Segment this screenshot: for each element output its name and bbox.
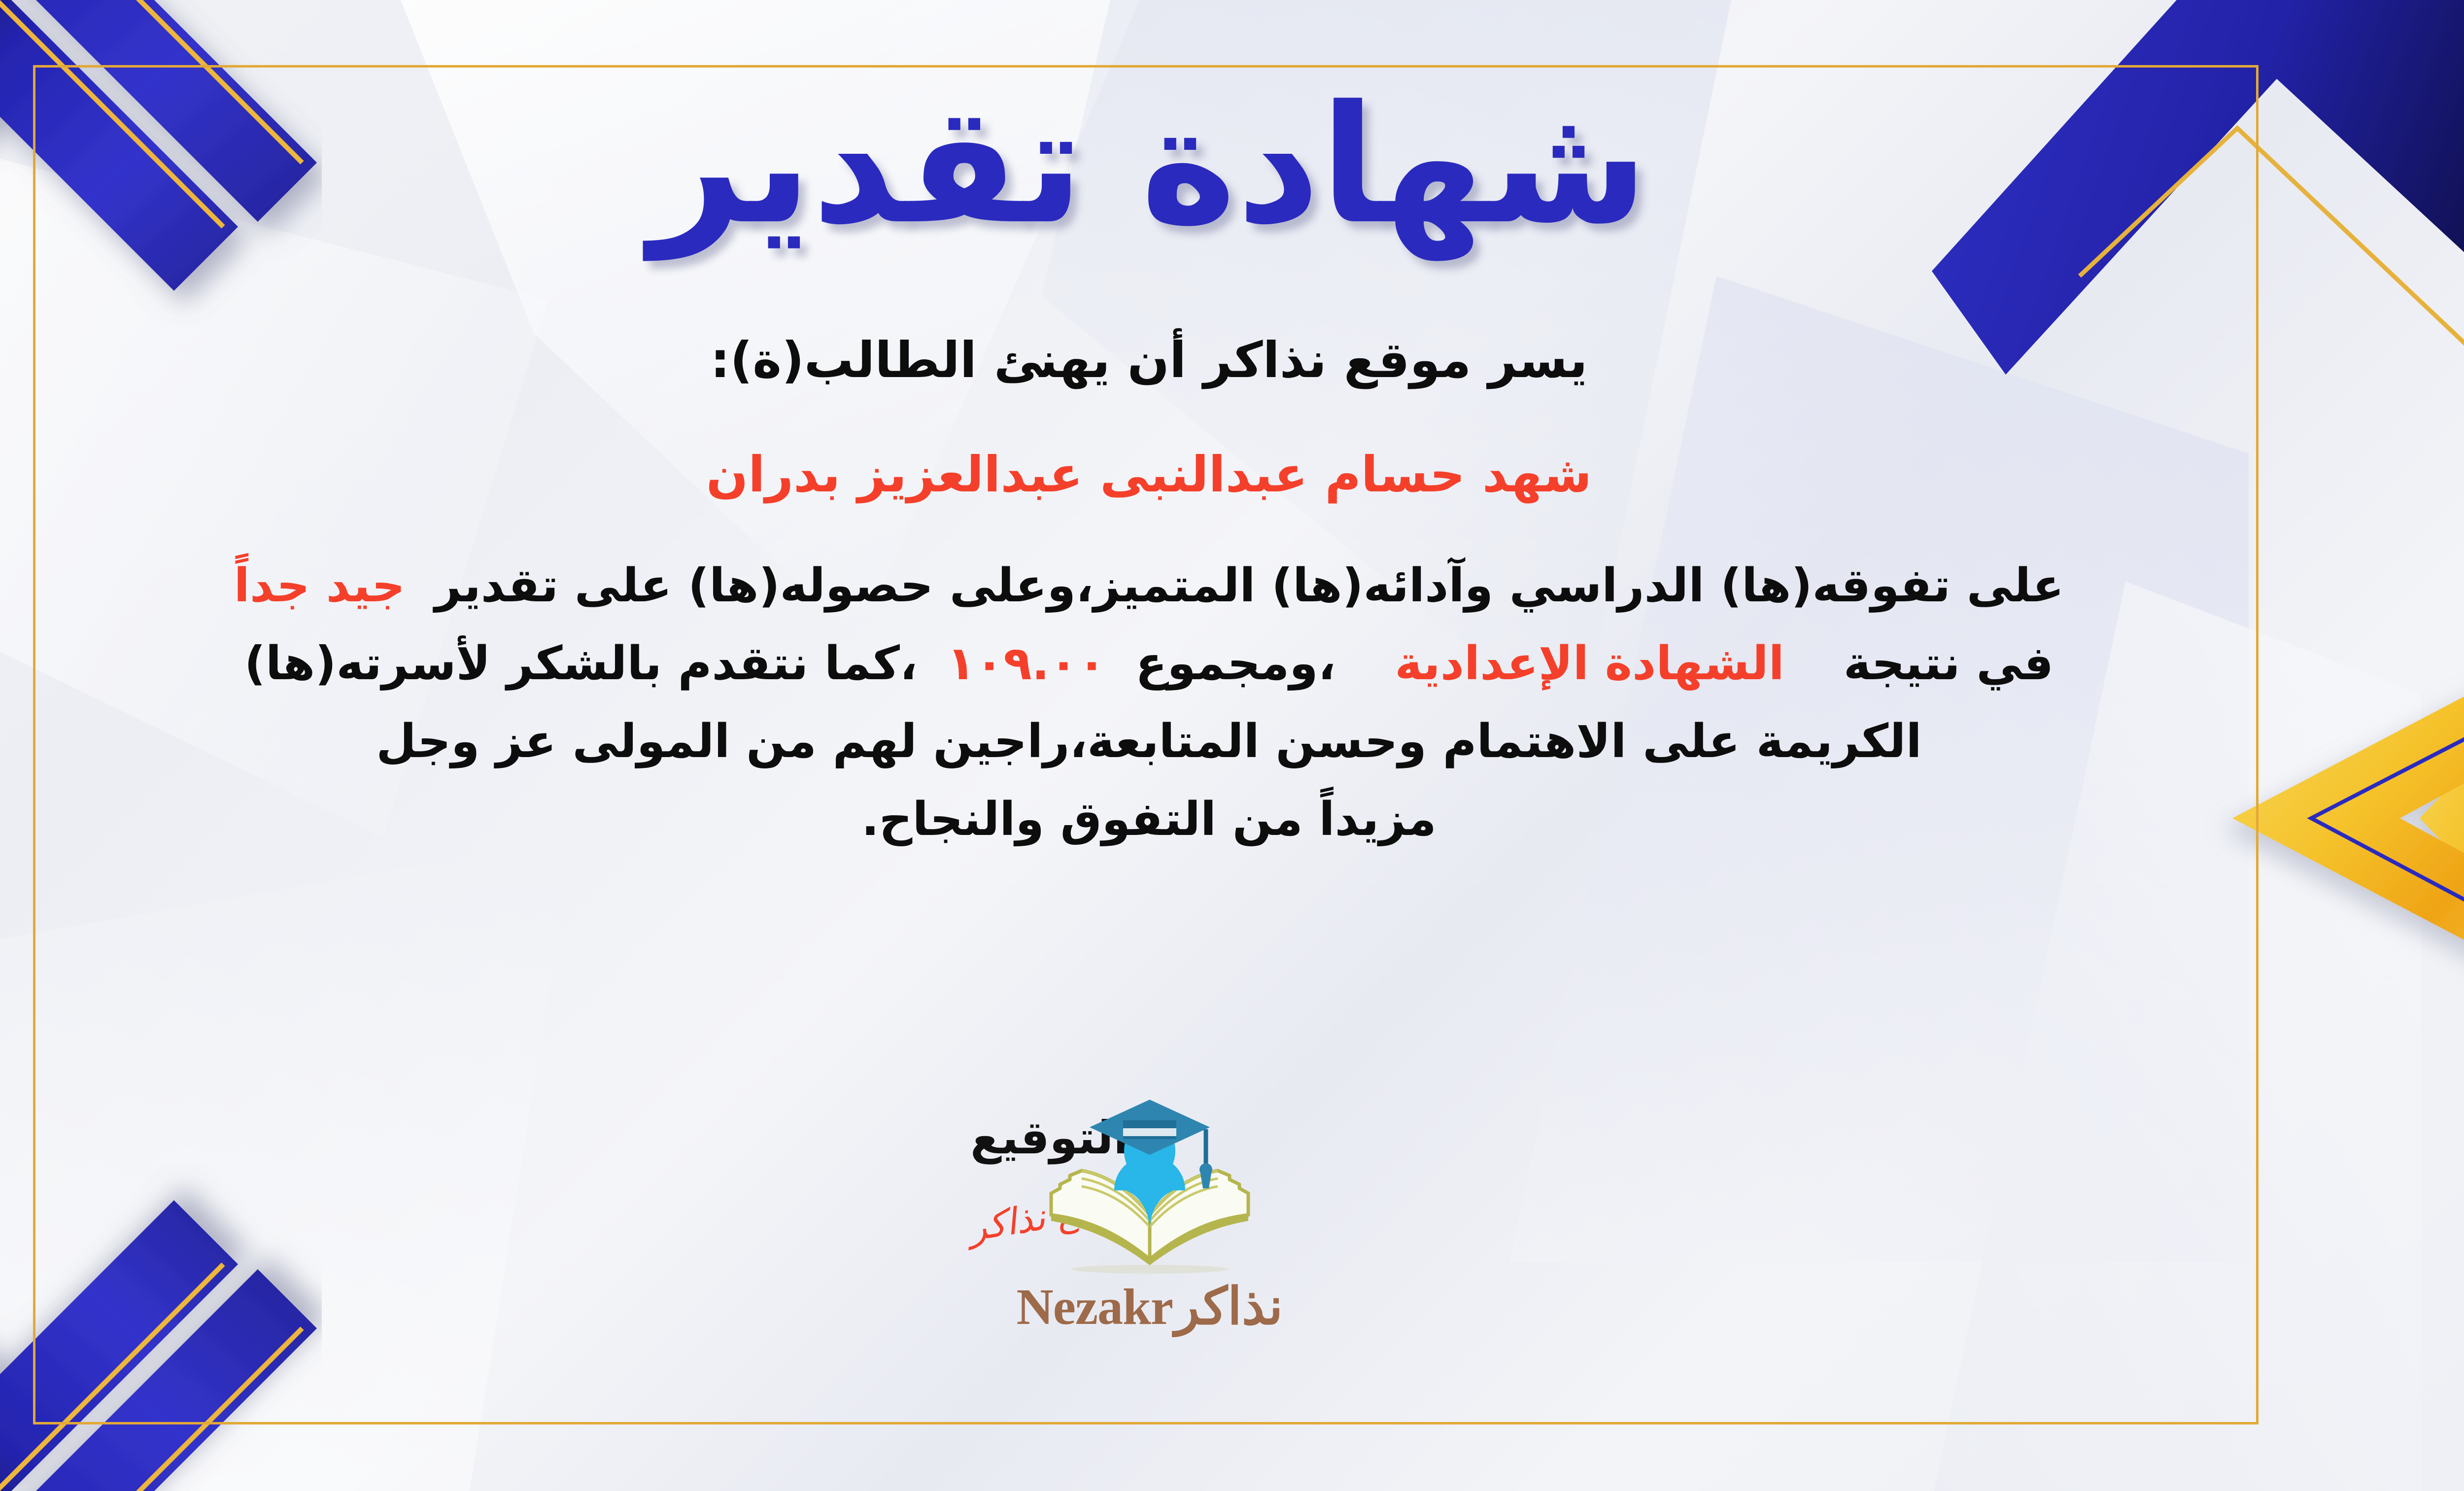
logo-wordmark: نذاكرNezakr (972, 1276, 1327, 1336)
graduation-book-logo-icon (1036, 1092, 1263, 1279)
site-logo-block: نذاكرNezakr (972, 1092, 1327, 1336)
exam-name: الشهادة الإعدادية (1395, 637, 1784, 691)
certificate-footer: التوقيع موقع نذاكر (0, 1111, 2464, 1417)
paragraph-part-6: مزيداً من التفوق والنجاح. (861, 793, 1437, 846)
certificate-page: شهادة تقدير يسر موقع نذاكر أن يهنئ الطال… (0, 0, 2464, 1491)
paragraph-part-1: على تفوقه(ها) الدراسي وآدائه(ها) المتميز… (435, 559, 2064, 613)
intro-line: يسر موقع نذاكر أن يهنئ الطالب(ة): (65, 320, 2233, 400)
total-score: ١٠٩.٠٠ (947, 637, 1106, 691)
paragraph-part-2: في نتيجة (1844, 637, 2053, 691)
certificate-content: شهادة تقدير يسر موقع نذاكر أن يهنئ الطال… (0, 0, 2464, 1491)
certificate-body: يسر موقع نذاكر أن يهنئ الطالب(ة): شهد حس… (65, 320, 2233, 859)
achievement-paragraph: على تفوقه(ها) الدراسي وآدائه(ها) المتميز… (65, 547, 2233, 859)
student-name: شهد حسام عبدالنبى عبدالعزيز بدران (65, 435, 2233, 515)
paragraph-part-3: ،ومجموع (1135, 637, 1335, 691)
logo-word-arabic: نذاكر (1175, 1279, 1283, 1335)
paragraph-part-4: ،كما نتقدم بالشكر لأسرته(ها) (244, 637, 918, 691)
grade-value: جيد جداً (234, 559, 405, 613)
logo-word-english: Nezakr (1017, 1278, 1173, 1336)
paragraph-part-5: الكريمة على الاهتمام وحسن المتابعة،راجين… (376, 715, 1921, 768)
certificate-title: شهادة تقدير (650, 84, 1648, 246)
